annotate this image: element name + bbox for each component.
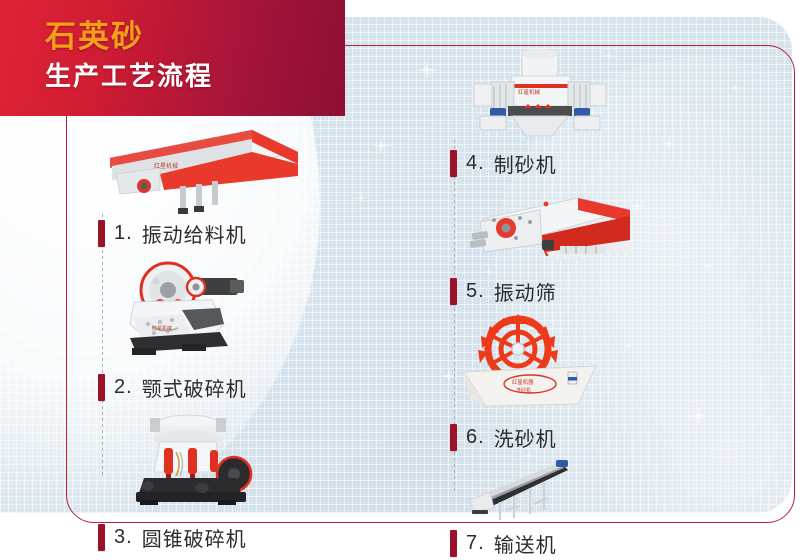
step-7-index: 7. [466,532,485,555]
step-7[interactable]: 7. 输送机 [450,458,750,560]
step-marker-bar [98,374,105,401]
step-7-label: 7. 输送机 [450,526,750,560]
step-3-label: 3. 圆锥破碎机 [98,520,398,554]
step-3[interactable]: 3. 圆锥破碎机 [98,410,398,554]
steps-column-right: 红星机械 4. 制砂机 [450,48,750,560]
step-4[interactable]: 红星机械 4. 制砂机 [450,48,750,180]
step-marker-bar [450,278,457,305]
svg-text:红星机械: 红星机械 [152,325,172,332]
step-marker-bar [98,524,105,551]
step-2-index: 2. [114,376,133,399]
step-1[interactable]: 红星机械 1. 振动给料机 [98,118,398,250]
step-6-label: 6. 洗砂机 [450,420,750,454]
step-3-text: 圆锥破碎机 [142,523,247,552]
sand-making-machine-icon: 红星机械 [450,48,750,144]
step-5-index: 5. [466,280,485,303]
step-5-label: 5. 振动筛 [450,274,750,308]
jaw-crusher-icon: 红星机械 [98,258,398,368]
step-1-text: 振动给料机 [142,219,247,248]
title-banner: 石英砂 生产工艺流程 [0,0,345,116]
svg-text:红星机械: 红星机械 [518,88,541,96]
step-marker-bar [98,220,105,247]
banner-title-secondary: 生产工艺流程 [45,59,213,93]
step-2-label: 2. 颚式破碎机 [98,370,398,404]
step-2-text: 颚式破碎机 [142,373,247,402]
infographic-stage: 石英砂 生产工艺流程 [0,0,800,530]
vibrating-screen-icon [450,188,750,272]
cone-crusher-icon [98,410,398,518]
step-5[interactable]: 5. 振动筛 [450,188,750,308]
steps-column-left: 红星机械 1. 振动给料机 [98,118,398,554]
step-marker-bar [450,424,457,451]
sand-washing-machine-icon: 红星机器 洗砂机 [450,314,750,418]
step-2[interactable]: 红星机械 2. 颚式破碎机 [98,258,398,404]
svg-text:红星机器: 红星机器 [512,378,534,386]
svg-text:红星机械: 红星机械 [154,162,178,170]
step-6[interactable]: 红星机器 洗砂机 6. 洗砂机 [450,314,750,454]
step-4-text: 制砂机 [494,149,557,178]
step-1-index: 1. [114,222,133,245]
step-4-index: 4. [466,152,485,175]
step-marker-bar [450,150,457,177]
step-6-text: 洗砂机 [494,423,557,452]
conveyor-icon [450,458,750,524]
step-4-label: 4. 制砂机 [450,146,750,180]
step-1-label: 1. 振动给料机 [98,216,398,250]
banner-title-primary: 石英砂 [45,18,213,56]
step-6-index: 6. [466,426,485,449]
step-3-index: 3. [114,526,133,549]
vibrating-feeder-icon: 红星机械 [98,118,398,214]
step-marker-bar [450,530,457,557]
svg-text:洗砂机: 洗砂机 [516,387,531,394]
step-5-text: 振动筛 [494,277,557,306]
step-7-text: 输送机 [494,529,557,558]
